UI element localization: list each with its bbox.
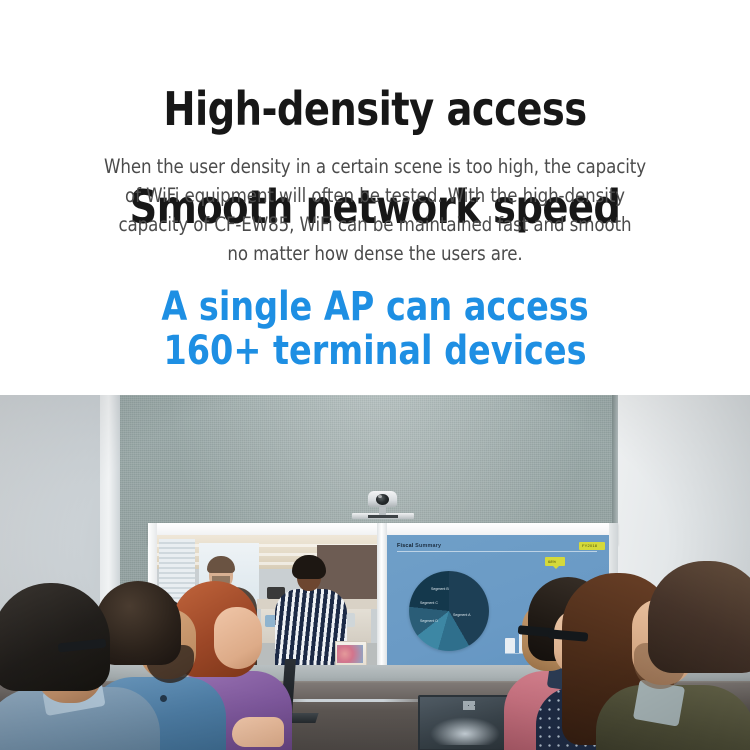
dashboard-title-prefix: Fiscal	[397, 543, 413, 549]
camera-mount-detail	[368, 515, 398, 518]
pie-slice-label: Segment A	[453, 613, 471, 617]
highlight-callout: A single AP can access 160+ terminal dev…	[26, 285, 724, 373]
paragraph-line-1: When the user density in a certain scene…	[68, 152, 682, 181]
paragraph-line-2: of WiFi equipment will often be tested. …	[68, 181, 682, 210]
conference-room-photo: Fiscal Summary FY2018 Segment B Segment …	[0, 395, 750, 750]
laptop-logo	[463, 701, 475, 710]
pie-slice-label: Segment D	[420, 619, 438, 623]
bar-callout-label: 68%	[548, 559, 556, 564]
camera-lens-glint	[378, 495, 382, 498]
description-paragraph: When the user density in a certain scene…	[68, 152, 682, 268]
remote-person-woman-hair	[292, 555, 326, 579]
pie-chart	[409, 571, 489, 651]
display-housing-middle	[377, 523, 387, 683]
page-title-line-1: High-density access	[26, 85, 724, 134]
pie-slice-label: Segment B	[431, 587, 449, 591]
person-left-3-face	[214, 607, 262, 669]
bar-callout-tip	[553, 566, 559, 569]
dashboard-badge-label: FY2018	[582, 543, 597, 548]
dashboard-rule	[397, 551, 597, 552]
promo-page: High-density access Smooth network speed…	[0, 0, 750, 750]
highlight-line-1: A single AP can access	[26, 285, 724, 329]
paragraph-line-4: no matter how dense the users are.	[68, 239, 682, 268]
pie-slice-label: Segment C	[420, 601, 438, 605]
person-right-3-hair	[648, 561, 750, 673]
person-left-3-hand	[232, 717, 284, 747]
dashboard-title: Fiscal Summary	[397, 543, 441, 549]
laptop-screen-glow	[430, 717, 500, 745]
highlight-line-2: 160+ terminal devices	[26, 329, 724, 373]
remote-picture-image	[337, 645, 363, 663]
paragraph-line-3: capacity of CF-EW85, WiFi can be maintai…	[68, 210, 682, 239]
text-section: High-density access Smooth network speed…	[0, 0, 750, 395]
dashboard-title-suffix: Summary	[413, 543, 441, 549]
bar	[505, 638, 515, 653]
person-left-2-button	[160, 695, 167, 702]
